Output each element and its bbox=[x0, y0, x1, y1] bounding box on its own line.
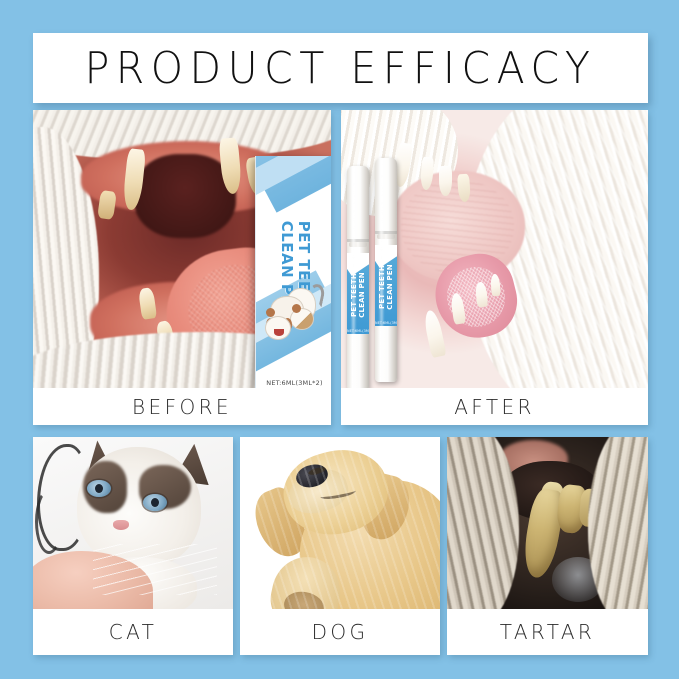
cat-photo bbox=[33, 437, 233, 609]
pupil bbox=[95, 484, 103, 493]
cat-card: CAT bbox=[33, 437, 233, 655]
cat-eye-right bbox=[143, 494, 167, 511]
dog-caption-label: DOG bbox=[312, 620, 369, 644]
dog-tartar-teeth-image bbox=[447, 437, 648, 609]
paw bbox=[292, 304, 301, 313]
tartar-caption: TARTAR bbox=[447, 609, 648, 655]
pen-barrel bbox=[375, 326, 397, 382]
pen-cap bbox=[375, 158, 397, 234]
cat-caption-label: CAT bbox=[109, 620, 158, 644]
tartar-photo bbox=[447, 437, 648, 609]
after-photo: PET TEETHCLEAN PEN NET:6ML(3ML*2) PET TE… bbox=[341, 110, 648, 388]
tartar-card: TARTAR bbox=[447, 437, 648, 655]
dog-photo bbox=[240, 437, 440, 609]
product-box-net-weight: NET:6ML(3ML*2) bbox=[256, 379, 331, 387]
ragdoll-cat-image bbox=[33, 437, 233, 609]
pet-mascot-illustration bbox=[264, 282, 326, 352]
before-photo: PET TEETHCLEAN PEN NET:6ML(3ML*2) bbox=[33, 110, 331, 388]
cat-caption: CAT bbox=[33, 609, 233, 655]
pen-label: PET TEETHCLEAN PEN NET:6ML(3ML*2) bbox=[347, 253, 369, 334]
pen-barrel bbox=[347, 334, 369, 388]
whiskers bbox=[93, 544, 217, 596]
fur-left bbox=[447, 437, 519, 609]
paw bbox=[266, 308, 275, 317]
product-pen: PET TEETHCLEAN PEN NET:6ML(3ML*2) bbox=[347, 166, 369, 388]
product-box-packaging: PET TEETHCLEAN PEN NET:6ML(3ML*2) bbox=[255, 156, 331, 388]
product-efficacy-poster: PRODUCT EFFICACY bbox=[0, 0, 679, 679]
pen-label: PET TEETHCLEAN PEN NET:6ML(3ML*2) bbox=[375, 245, 397, 326]
before-card: PET TEETHCLEAN PEN NET:6ML(3ML*2) BEFORE bbox=[33, 110, 331, 425]
tooth bbox=[97, 190, 117, 220]
before-caption-label: BEFORE bbox=[132, 395, 232, 419]
pen-label-net-weight: NET:6ML(3ML*2) bbox=[347, 329, 369, 333]
background-cord-secondary bbox=[35, 489, 63, 554]
after-card: PET TEETHCLEAN PEN NET:6ML(3ML*2) PET TE… bbox=[341, 110, 648, 425]
pupil bbox=[151, 498, 159, 507]
tartar-caption-label: TARTAR bbox=[500, 620, 595, 644]
after-caption: AFTER bbox=[341, 388, 648, 425]
fur-right bbox=[588, 437, 648, 609]
title-card: PRODUCT EFFICACY bbox=[33, 33, 648, 103]
dog-head bbox=[265, 316, 291, 340]
pen-label-line2: CLEAN PEN bbox=[386, 264, 394, 310]
pen-cap bbox=[347, 166, 369, 242]
golden-retriever-puppy-image bbox=[240, 437, 440, 609]
fur-texture bbox=[240, 437, 440, 609]
before-caption: BEFORE bbox=[33, 388, 331, 425]
pen-label-line2: CLEAN PEN bbox=[358, 272, 366, 318]
tooth bbox=[439, 166, 451, 197]
cat-nose bbox=[113, 520, 129, 530]
pen-highlight bbox=[380, 158, 383, 382]
pen-highlight bbox=[352, 166, 355, 388]
page-title: PRODUCT EFFICACY bbox=[85, 43, 597, 94]
dog-caption: DOG bbox=[240, 609, 440, 655]
after-caption-label: AFTER bbox=[454, 395, 535, 419]
dog-mouth bbox=[274, 329, 284, 336]
product-pen: PET TEETHCLEAN PEN NET:6ML(3ML*2) bbox=[375, 158, 397, 382]
pen-label-net-weight: NET:6ML(3ML*2) bbox=[375, 321, 397, 325]
dog-card: DOG bbox=[240, 437, 440, 655]
